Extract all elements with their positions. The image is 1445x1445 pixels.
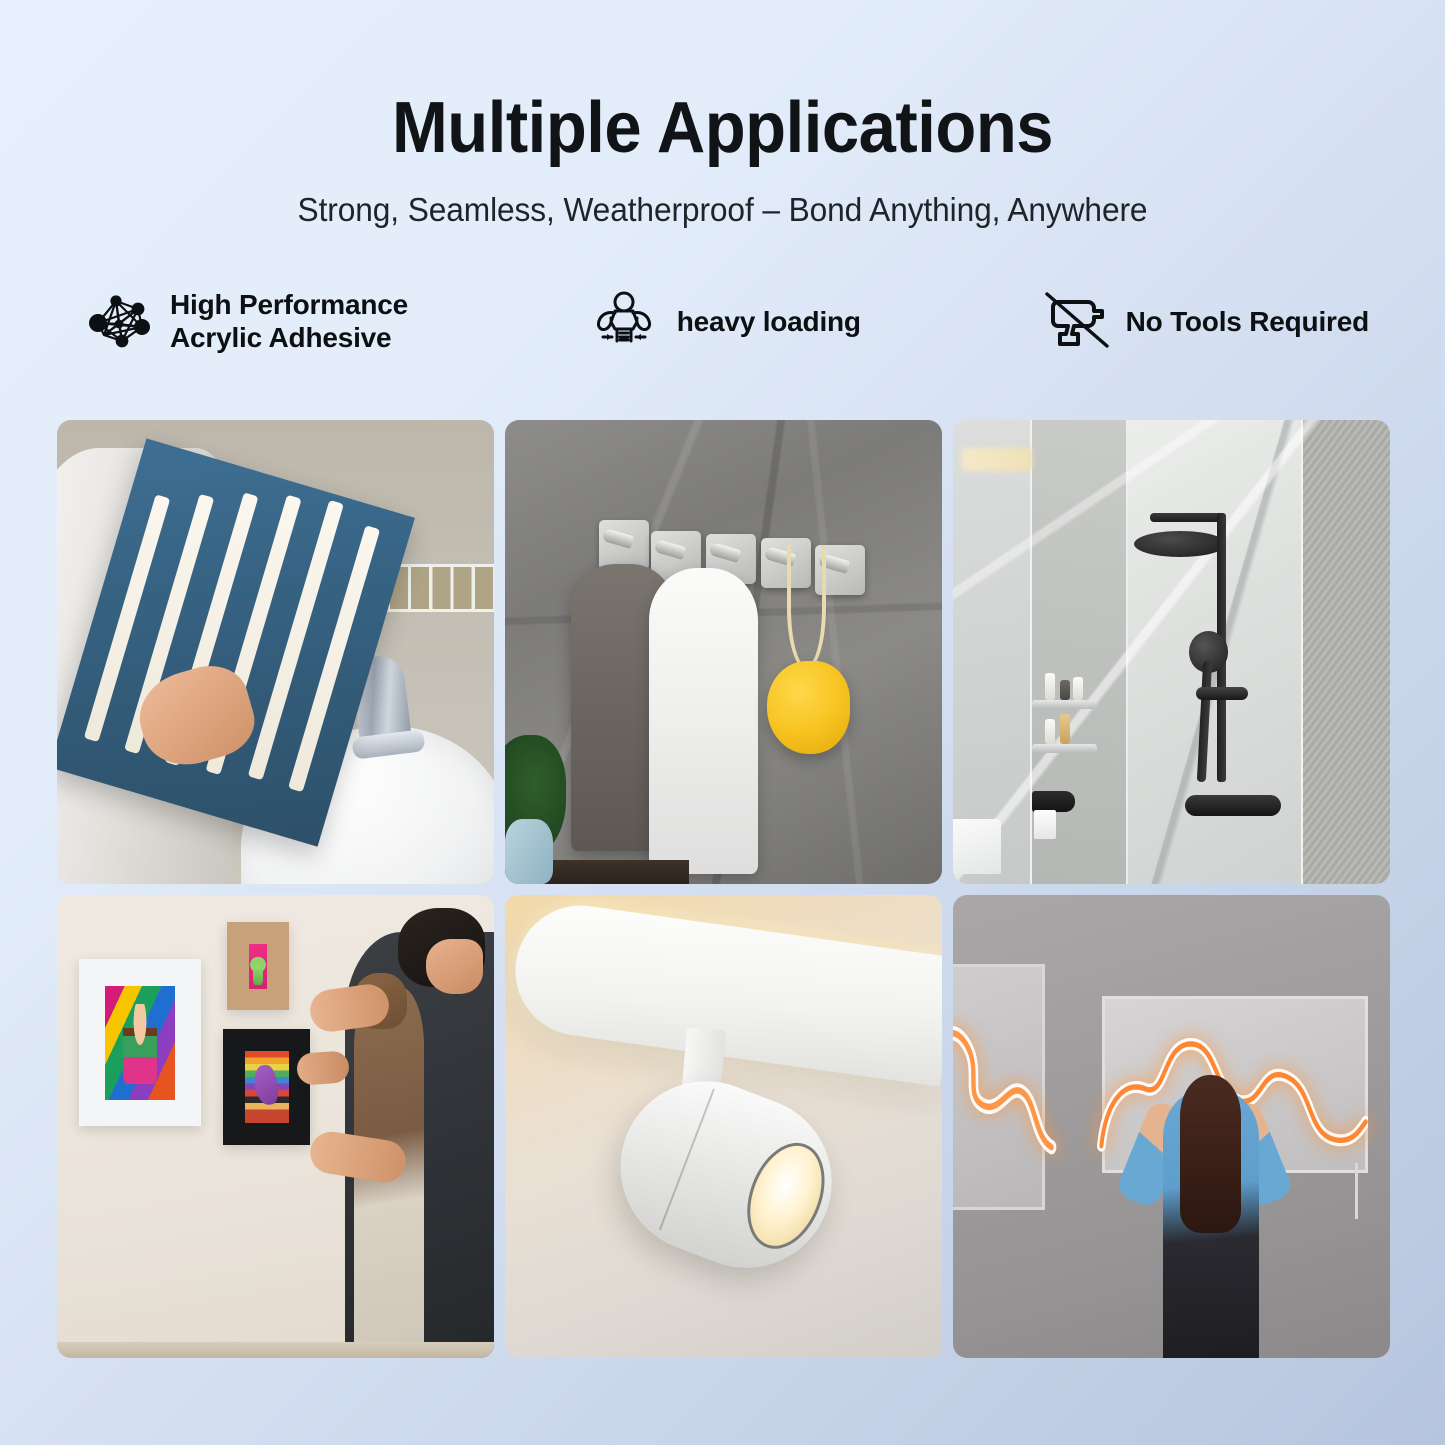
adhesive-hook — [599, 520, 649, 570]
cove-lighting — [962, 448, 1032, 471]
feature-label: heavy loading — [677, 305, 861, 338]
neon-rope-squiggle-left — [953, 1006, 1058, 1164]
power-cord — [1355, 1163, 1358, 1219]
photo-panel-adhesive-strips — [57, 420, 494, 884]
shower-arm — [1150, 513, 1224, 522]
page-subtitle: Strong, Seamless, Weatherproof – Bond An… — [29, 191, 1416, 229]
feature-heavy-loading: heavy loading — [587, 289, 861, 354]
spotlight-cylinder — [595, 1056, 856, 1293]
molecule-network-icon — [86, 289, 154, 354]
photo-adhesive-hooks-towels — [505, 420, 942, 884]
toiletry-bottle — [1045, 719, 1055, 744]
strongman-flex-icon — [587, 289, 661, 354]
feature-strip: High Performance Acrylic Adhesive — [0, 273, 1445, 369]
adult-face — [426, 939, 483, 995]
picture-frame-white — [79, 959, 201, 1126]
toilet-paper-holder — [1032, 791, 1076, 812]
blue-vase — [505, 819, 553, 884]
header: Multiple Applications Strong, Seamless, … — [0, 0, 1445, 229]
thermostatic-mixer — [1185, 795, 1281, 816]
photo-hanging-artwork — [57, 895, 494, 1359]
photo-neon-rope-light — [953, 895, 1390, 1359]
child-arm — [296, 1050, 351, 1086]
feature-label: High Performance Acrylic Adhesive — [170, 288, 408, 354]
yellow-sponge — [767, 661, 850, 754]
picture-frame-black — [223, 1029, 310, 1145]
feature-high-performance-acrylic-adhesive: High Performance Acrylic Adhesive — [86, 288, 408, 354]
feature-no-tools-required: No Tools Required — [1044, 288, 1369, 355]
cylinder-seam — [659, 1089, 715, 1231]
photo-shower-fixture — [953, 420, 1390, 884]
toilet-cistern — [953, 819, 1001, 875]
feature-label: No Tools Required — [1126, 305, 1369, 338]
toiletry-bottle — [1060, 714, 1070, 744]
installer-hair — [1180, 1075, 1241, 1233]
application-photo-grid — [57, 420, 1390, 1358]
child-artwork-girl — [105, 986, 175, 1100]
marble-veining — [953, 420, 1390, 884]
photo-led-spotlight — [505, 895, 942, 1359]
baseboard — [57, 1342, 494, 1358]
page-title: Multiple Applications — [51, 92, 1395, 165]
corner-shelf — [1032, 700, 1098, 708]
toiletry-bottle — [1045, 673, 1055, 701]
spotlight-lens — [733, 1132, 838, 1260]
toiletry-bottle — [1060, 680, 1070, 701]
child-artwork-bird — [245, 1051, 289, 1123]
shower-slider-bracket — [1196, 687, 1248, 701]
white-towel — [649, 568, 758, 874]
toiletry-bottle — [1073, 677, 1083, 700]
child-artwork-dinosaur — [249, 944, 266, 988]
sponge-cord — [787, 545, 826, 670]
corner-shelf — [1032, 744, 1098, 752]
picture-frame-wood — [227, 922, 288, 1010]
no-drill-icon — [1044, 288, 1110, 355]
